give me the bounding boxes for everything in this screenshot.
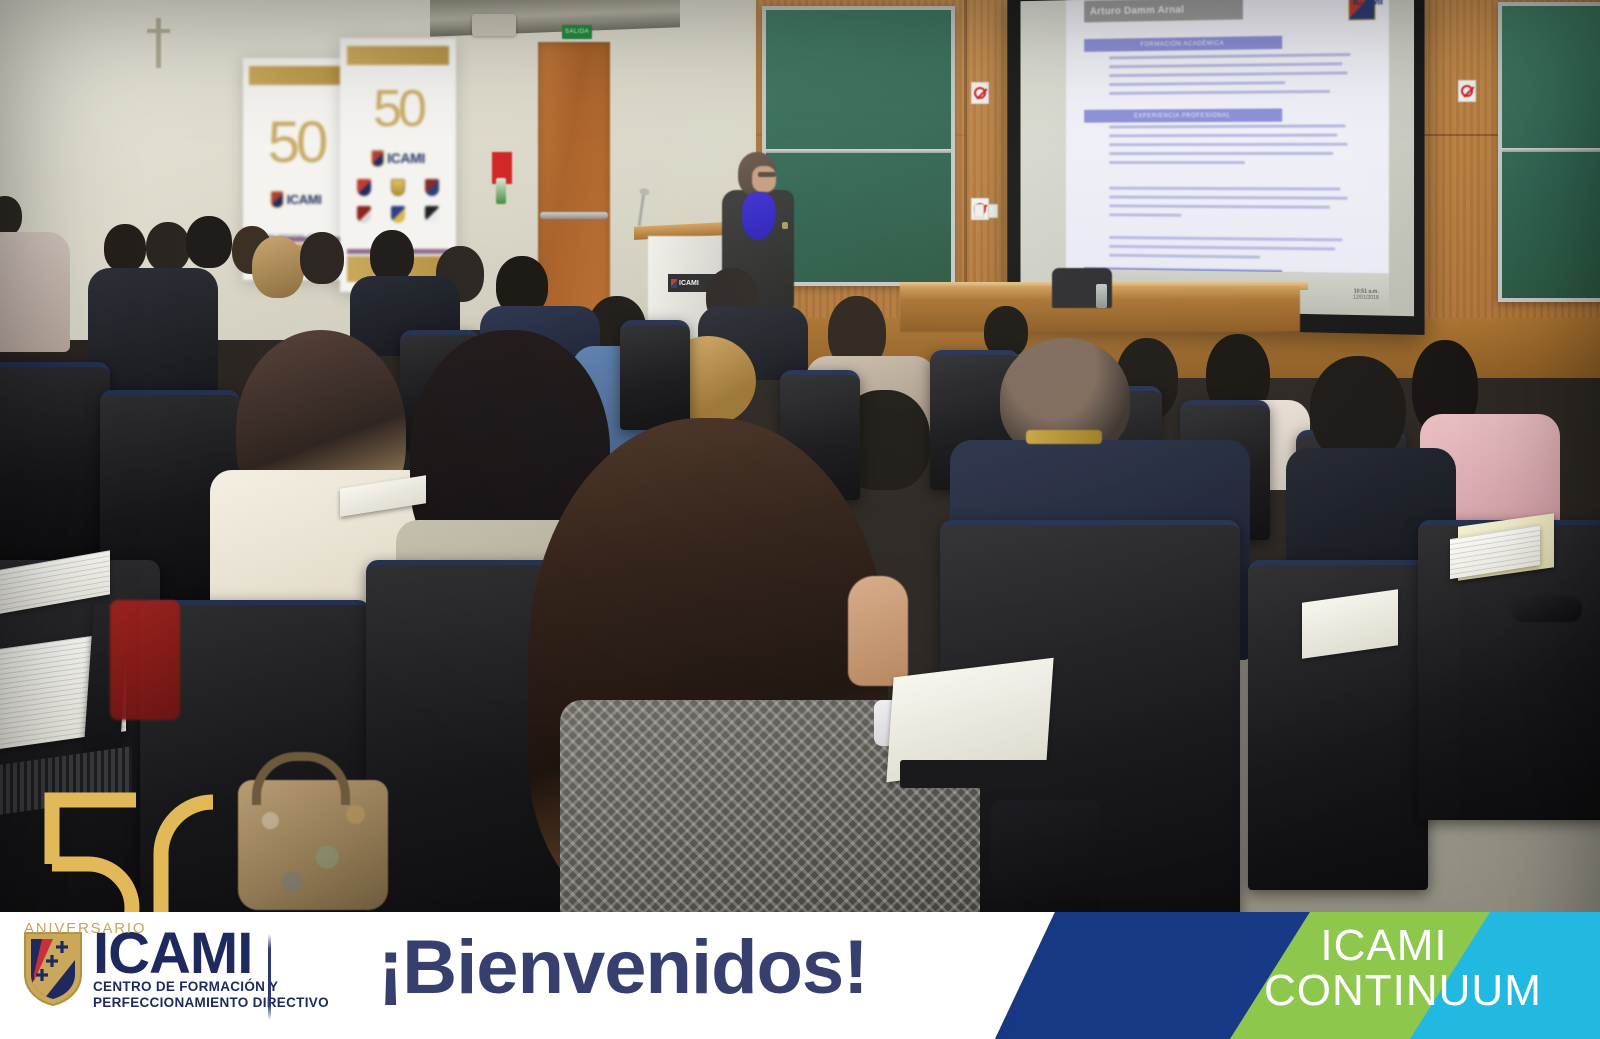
footer-banner: ICAMI CENTRO DE FORMACIÓN Y PERFECCIONAM…	[0, 912, 1600, 1039]
crest-icon	[418, 178, 447, 198]
icami-continuum-brand: ICAMI CONTINUUM	[1264, 924, 1504, 1014]
slide-title: Arturo Damm Arnal	[1084, 4, 1184, 17]
banner-image: 50 ICAMI Mejores personas, mejores resul…	[0, 0, 1600, 1039]
slide-paragraph	[1109, 53, 1355, 101]
slide-title-bar: Arturo Damm Arnal	[1084, 0, 1243, 22]
slide-paragraph	[1109, 187, 1355, 225]
taskbar-clock: 10:51 a.m. 12/01/2018	[1353, 288, 1379, 301]
shield-icon	[671, 279, 677, 288]
icami-subtitle-line2: PERFECCIONAMIENTO DIRECTIVO	[93, 995, 329, 1011]
slide-paragraph	[1109, 236, 1355, 266]
handbag	[238, 780, 388, 910]
icami-shield-icon	[22, 930, 84, 1008]
tray-support	[900, 760, 1050, 788]
slide-section-heading: EXPERIENCIA PROFESIONAL	[1084, 108, 1282, 122]
shield-icon	[371, 150, 384, 167]
podium-logo-label: ICAMI	[679, 280, 699, 287]
lanyard	[1026, 430, 1102, 444]
exit-sign: SALIDA	[562, 25, 592, 39]
banner-top-bar	[347, 46, 449, 65]
icami-wordmark: ICAMI CENTRO DE FORMACIÓN Y PERFECCIONAM…	[93, 928, 329, 1010]
shield-icon	[271, 191, 284, 208]
speaker-face	[752, 166, 776, 192]
fire-extinguisher-icon	[492, 152, 512, 184]
red-bag	[110, 600, 180, 720]
banner-wordmark: ICAMI	[387, 150, 425, 166]
audience-head	[104, 224, 146, 272]
brand-line-2: CONTINUUM	[1264, 969, 1504, 1014]
banner-top-bar	[249, 66, 342, 85]
chalkboard-right	[1498, 2, 1600, 302]
handbag-pattern	[242, 784, 384, 906]
banner-logo: ICAMI	[271, 191, 322, 208]
icami-logo-lockup: ICAMI CENTRO DE FORMACIÓN Y PERFECCIONAM…	[22, 928, 329, 1010]
foreground-person-hand	[848, 576, 908, 686]
exit-door	[538, 42, 610, 330]
audience-head	[252, 236, 304, 298]
crest-icon	[383, 178, 412, 198]
no-smoking-icon	[971, 82, 989, 104]
slide-paragraph	[1109, 124, 1355, 170]
welcome-headline: ¡Bienvenidos!	[378, 930, 868, 1006]
slide-logo-word: ICAMI	[1353, 0, 1383, 8]
slide-section-heading: FORMACIÓN ACADÉMICA	[1084, 36, 1282, 52]
wall-outlet	[974, 204, 984, 218]
audience-head	[186, 216, 232, 268]
wall-outlet	[988, 204, 998, 218]
auditorium-seat	[620, 320, 690, 430]
audience-shoulders	[0, 232, 70, 352]
crest-icon	[383, 205, 412, 225]
chalkboard-rail	[1502, 148, 1600, 152]
banner-anniversary-number: 50	[268, 120, 325, 166]
door-push-bar	[540, 212, 608, 219]
shoe	[1512, 596, 1582, 622]
speaker-badge	[782, 222, 788, 229]
crest-icon	[418, 205, 447, 225]
banner-anniversary-number: 50	[373, 89, 423, 131]
projected-slide: Arturo Damm Arnal ICAMI FORMACIÓN ACADÉM…	[1066, 0, 1390, 274]
footer-divider	[268, 934, 271, 1020]
audience-head	[146, 222, 190, 272]
photograph: 50 ICAMI Mejores personas, mejores resul…	[0, 0, 1600, 1039]
icami-subtitle-line1: CENTRO DE FORMACIÓN Y	[93, 979, 329, 995]
audience-head	[370, 230, 414, 282]
chalkboard-rail	[766, 149, 951, 153]
partner-crest-grid	[349, 178, 446, 225]
water-bottle	[1096, 284, 1107, 308]
auditorium-seat	[0, 362, 110, 562]
no-smoking-icon	[1458, 80, 1476, 102]
anniversary-label: ANIVERSARIO	[24, 920, 146, 937]
audience-head	[300, 232, 344, 284]
crest-icon	[349, 205, 378, 225]
panel-seam	[964, 0, 967, 330]
exit-sign-label: SALIDA	[565, 29, 589, 35]
crest-icon	[349, 178, 378, 198]
brand-line-1: ICAMI	[1264, 924, 1504, 969]
banner-logo: ICAMI	[371, 150, 425, 167]
speaker-glasses	[758, 172, 776, 177]
banner-wordmark: ICAMI	[287, 192, 322, 207]
ceiling-speaker	[472, 14, 516, 36]
crucifix-icon	[156, 18, 161, 68]
